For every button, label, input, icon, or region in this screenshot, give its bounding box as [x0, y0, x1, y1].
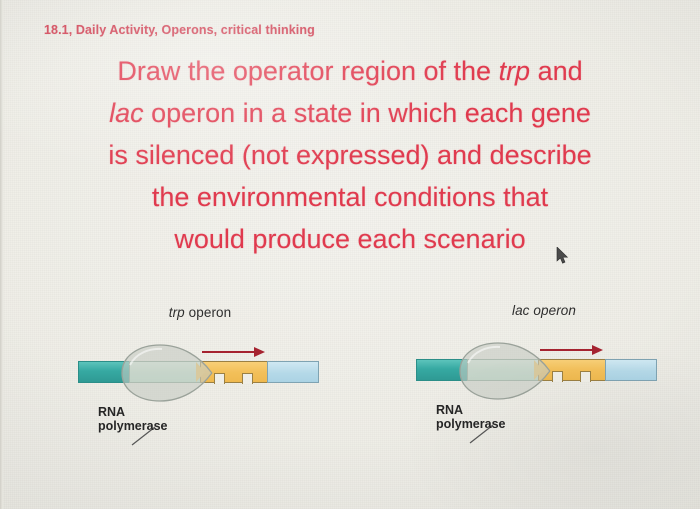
- question-line-5: would produce each scenario: [30, 218, 670, 260]
- lac-operon-label-italic: lac operon: [512, 303, 576, 318]
- lac-operon-label: lac operon: [400, 303, 674, 318]
- question-line-1: Draw the operator region of the trp and: [30, 50, 670, 92]
- trp-gene-notch-2: [242, 373, 253, 384]
- trp-gene-notch-1: [214, 373, 225, 384]
- photo-left-edge: [0, 0, 4, 509]
- question-line-2-part-b: operon in a state in which each gene: [144, 98, 591, 128]
- question-line-1-part-b: and: [530, 56, 583, 86]
- question-line-2: lac operon in a state in which each gene: [30, 92, 670, 134]
- slide-header: 18.1, Daily Activity, Operons, critical …: [44, 23, 315, 37]
- lac-gene-notch-1: [552, 371, 563, 382]
- question-text: Draw the operator region of the trp and …: [30, 50, 670, 260]
- slide-photo: 18.1, Daily Activity, Operons, critical …: [0, 0, 700, 509]
- lac-operon-diagram: lac operon: [400, 303, 660, 438]
- trp-caption-line-1: RNA: [98, 405, 167, 419]
- trp-operon-label: trp operon: [62, 305, 330, 320]
- trp-operon-label-italic: trp: [169, 305, 185, 320]
- trp-caption-line-2: polymerase: [98, 419, 167, 433]
- lac-caption-line-2: polymerase: [436, 417, 505, 431]
- lac-dna-stage: [414, 341, 646, 403]
- trp-segment-downstream-blue: [267, 361, 319, 383]
- trp-operon-diagram: trp operon: [62, 305, 322, 440]
- lac-gene-notch-2: [580, 371, 591, 382]
- trp-operon-label-rest: operon: [185, 305, 232, 320]
- mouse-pointer-icon: [556, 247, 570, 265]
- question-term-trp: trp: [499, 56, 531, 86]
- trp-rna-polymerase-caption: RNA polymerase: [98, 405, 167, 433]
- lac-caption-line-1: RNA: [436, 403, 505, 417]
- question-term-lac: lac: [109, 98, 144, 128]
- lac-transcription-arrow: [538, 343, 604, 357]
- question-line-4: the environmental conditions that: [30, 176, 670, 218]
- lac-rna-polymerase-caption: RNA polymerase: [436, 403, 505, 431]
- trp-transcription-arrow: [200, 345, 266, 359]
- question-line-1-part-a: Draw the operator region of the: [117, 56, 498, 86]
- question-line-3: is silenced (not expressed) and describe: [30, 134, 670, 176]
- trp-dna-stage: [76, 343, 308, 405]
- lac-segment-downstream-blue: [605, 359, 657, 381]
